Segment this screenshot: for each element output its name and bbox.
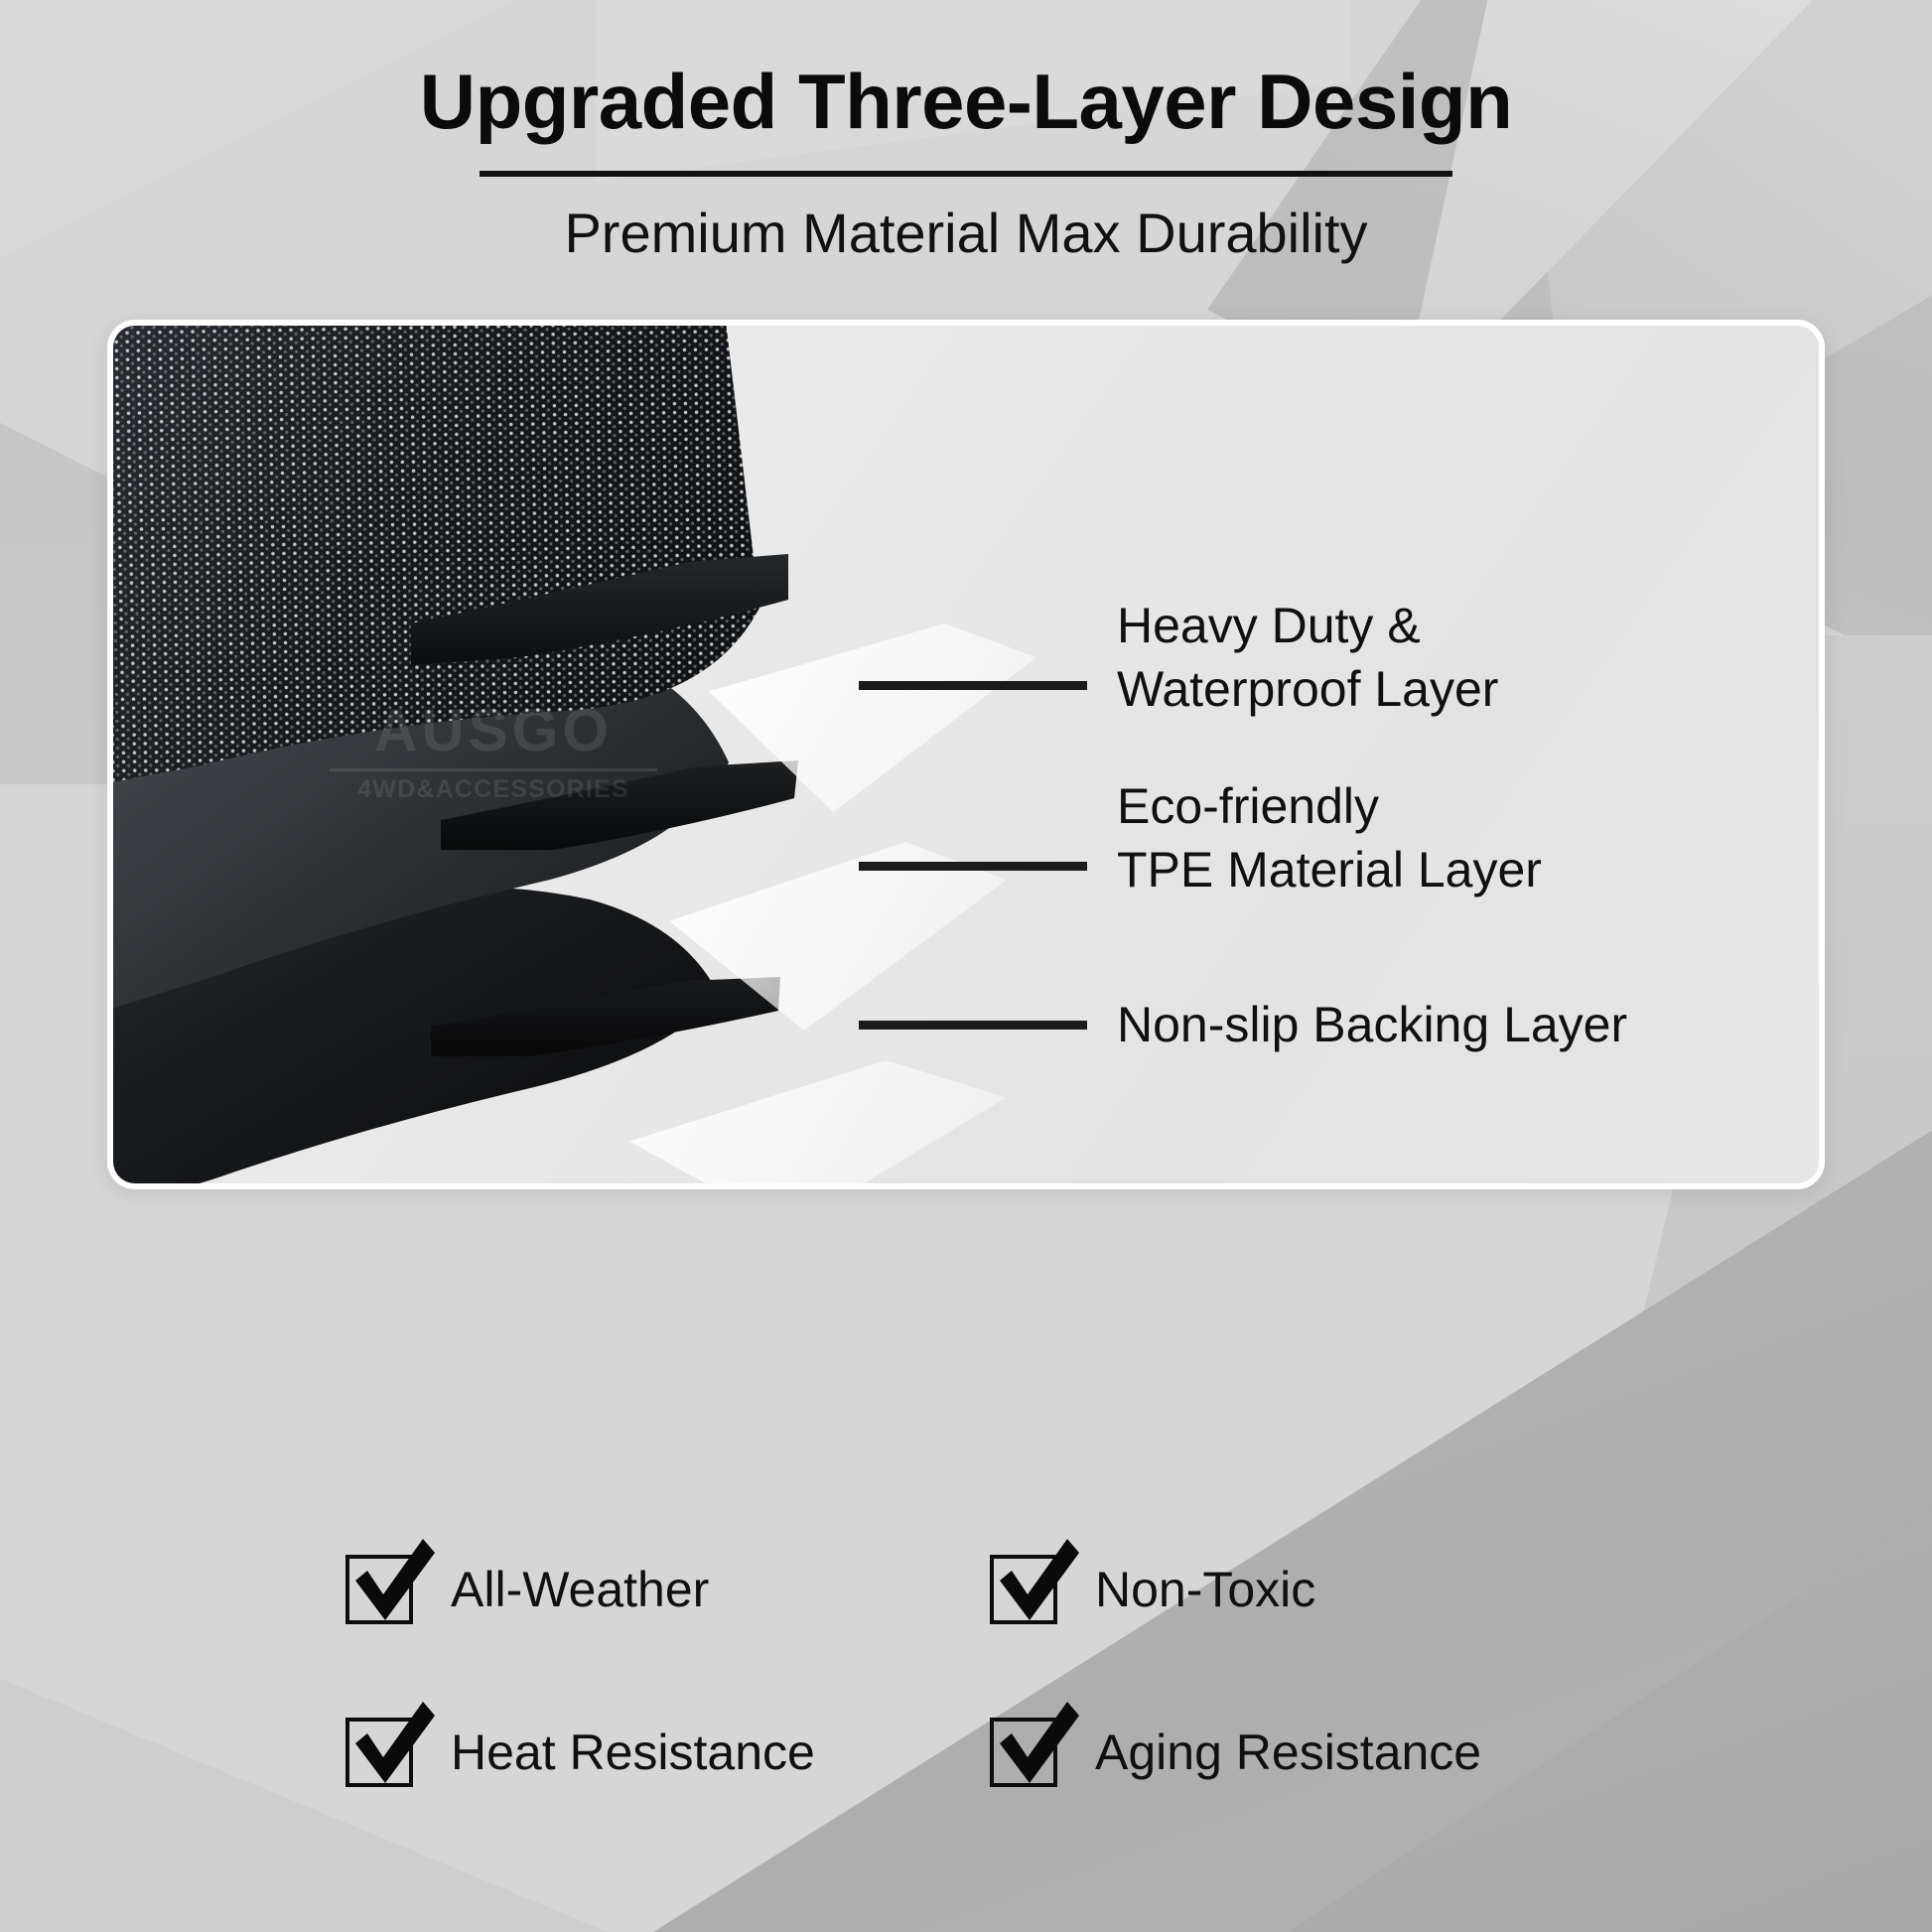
layer-illustration-card: AUSGO 4WD&ACCESSORIES xyxy=(107,320,1825,1189)
checkmark-icon xyxy=(992,1537,1079,1628)
callout-leader-line xyxy=(859,681,1087,690)
callout-waterproof-layer: Heavy Duty & Waterproof Layer xyxy=(859,594,1498,721)
product-infographic: Upgraded Three-Layer Design Premium Mate… xyxy=(0,0,1932,1932)
feature-label: Non-Toxic xyxy=(1095,1561,1315,1618)
brand-watermark: AUSGO 4WD&ACCESSORIES xyxy=(330,701,657,802)
watermark-divider xyxy=(330,768,657,771)
header: Upgraded Three-Layer Design Premium Mate… xyxy=(0,62,1932,263)
checkmark-icon xyxy=(347,1537,435,1628)
callout-line-1: Eco-friendly xyxy=(1117,778,1379,834)
callout-text: Eco-friendly TPE Material Layer xyxy=(1117,774,1542,901)
page-subtitle: Premium Material Max Durability xyxy=(0,203,1932,264)
callout-text: Non-slip Backing Layer xyxy=(1117,993,1627,1056)
feature-label: Heat Resistance xyxy=(451,1724,815,1781)
feature-item-aging-resistance[interactable]: Aging Resistance xyxy=(990,1714,1634,1791)
checkbox-checked[interactable] xyxy=(990,1714,1061,1791)
callout-text: Heavy Duty & Waterproof Layer xyxy=(1117,594,1498,721)
feature-item-non-toxic[interactable]: Non-Toxic xyxy=(990,1551,1634,1628)
title-divider xyxy=(480,171,1452,177)
feature-label: All-Weather xyxy=(451,1561,709,1618)
checkbox-checked[interactable] xyxy=(345,1551,417,1628)
callout-line-2: TPE Material Layer xyxy=(1117,838,1542,901)
callout-leader-line xyxy=(859,1021,1087,1030)
watermark-brand-name: AUSGO xyxy=(330,701,657,760)
bg-facet-bottom-right xyxy=(621,1118,1932,1932)
feature-item-heat-resistance[interactable]: Heat Resistance xyxy=(345,1714,990,1791)
feature-item-all-weather[interactable]: All-Weather xyxy=(345,1551,990,1628)
feature-label: Aging Resistance xyxy=(1095,1724,1481,1781)
callout-leader-line xyxy=(859,862,1087,871)
checkmark-icon xyxy=(347,1700,435,1791)
callout-line-2: Waterproof Layer xyxy=(1117,657,1498,721)
checkbox-checked[interactable] xyxy=(345,1714,417,1791)
page-title: Upgraded Three-Layer Design xyxy=(0,62,1932,143)
feature-checklist: All-Weather Non-Toxic Heat Resistance xyxy=(0,1551,1932,1791)
callout-non-slip-layer: Non-slip Backing Layer xyxy=(859,993,1627,1056)
callout-tpe-layer: Eco-friendly TPE Material Layer xyxy=(859,774,1542,901)
callout-line-1: Heavy Duty & xyxy=(1117,598,1421,653)
checkmark-icon xyxy=(992,1700,1079,1791)
callout-line-1: Non-slip Backing Layer xyxy=(1117,997,1627,1052)
checkbox-checked[interactable] xyxy=(990,1551,1061,1628)
watermark-tagline: 4WD&ACCESSORIES xyxy=(330,777,657,802)
layer-highlight-bottom xyxy=(629,1060,1007,1183)
